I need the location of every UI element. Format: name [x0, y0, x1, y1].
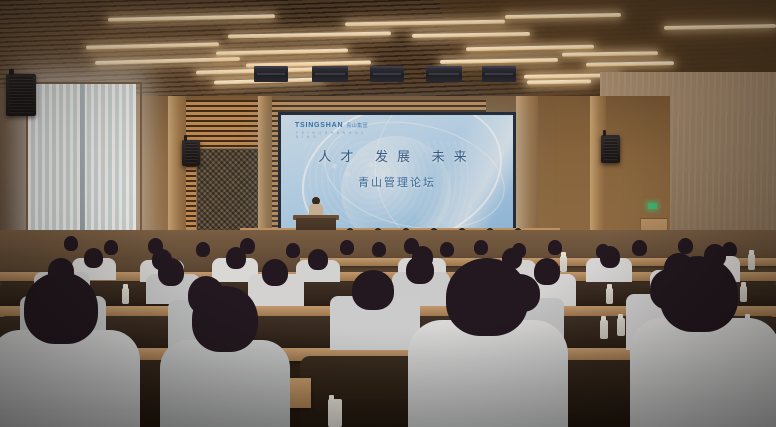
attendee-head [352, 270, 394, 310]
attendee-head [548, 240, 562, 255]
attendee-head-foreground [446, 258, 528, 336]
speaker-grill [9, 77, 33, 113]
logo-tagline: T S I N G S H A N H O L D I N G [296, 131, 368, 139]
attendee-head [678, 238, 693, 254]
slide-logo: TSINGSHAN 青山集团 T S I N G S H A N H O L D… [295, 122, 368, 129]
water-bottle [740, 286, 747, 302]
logo-wordmark: TSINGSHAN [295, 122, 343, 129]
ceiling-vent [312, 66, 348, 82]
wall-pilaster [590, 96, 606, 248]
logo-chinese-name: 青山集团 [346, 122, 368, 129]
attendee-body-foreground [160, 340, 290, 427]
water-bottle [122, 288, 129, 304]
attendee-head-foreground [660, 256, 738, 332]
attendee-head [474, 240, 488, 255]
attendee-body-foreground [408, 320, 568, 427]
screenshot-root: TSINGSHAN 青山集团 T S I N G S H A N H O L D… [0, 0, 776, 427]
attendee-head [308, 249, 328, 270]
attendee-head [286, 243, 300, 258]
attendee-head [158, 258, 184, 286]
ceiling-vent [426, 66, 462, 82]
ceiling-vent [254, 66, 288, 82]
attendee-head [372, 242, 386, 257]
slide-headline: 人才 发展 未来 [281, 146, 513, 165]
attendee-head [196, 242, 210, 257]
attendee-head [262, 259, 288, 286]
wall-pilaster [168, 96, 186, 248]
attendee-head [600, 246, 620, 268]
attendee-head [104, 240, 118, 255]
attendee-head [406, 256, 434, 284]
ceiling-vent [482, 66, 516, 82]
water-bottle [617, 318, 625, 336]
attendee-body-foreground [0, 330, 140, 427]
attendee-head-foreground [192, 286, 258, 352]
attendee-head [340, 240, 354, 255]
wall-speaker-icon [182, 140, 200, 166]
speaker-grill [604, 138, 617, 160]
wall-pilaster [258, 96, 272, 248]
attendee-head [534, 258, 560, 285]
water-bottle [748, 254, 755, 270]
attendee-head-foreground [24, 272, 98, 344]
water-bottle [600, 320, 608, 339]
ceiling-vent-band [250, 62, 525, 88]
attendee-head [64, 236, 78, 251]
wall-speaker-icon [6, 74, 36, 116]
water-bottle [328, 399, 342, 427]
slide-subtitle: 青山管理论坛 [281, 174, 513, 190]
exit-sign-icon [648, 203, 657, 209]
attendee-body-foreground [630, 318, 776, 427]
wall-pilaster [516, 96, 538, 248]
water-bottle [560, 256, 567, 272]
water-bottle [606, 288, 613, 304]
attendee-head [440, 242, 454, 257]
attendee-head [84, 248, 103, 268]
wall-speaker-icon [601, 135, 620, 163]
speaker-grill [185, 143, 197, 163]
attendee-head [632, 240, 647, 256]
ceiling-vent [370, 66, 404, 82]
attendee-head [226, 247, 246, 269]
